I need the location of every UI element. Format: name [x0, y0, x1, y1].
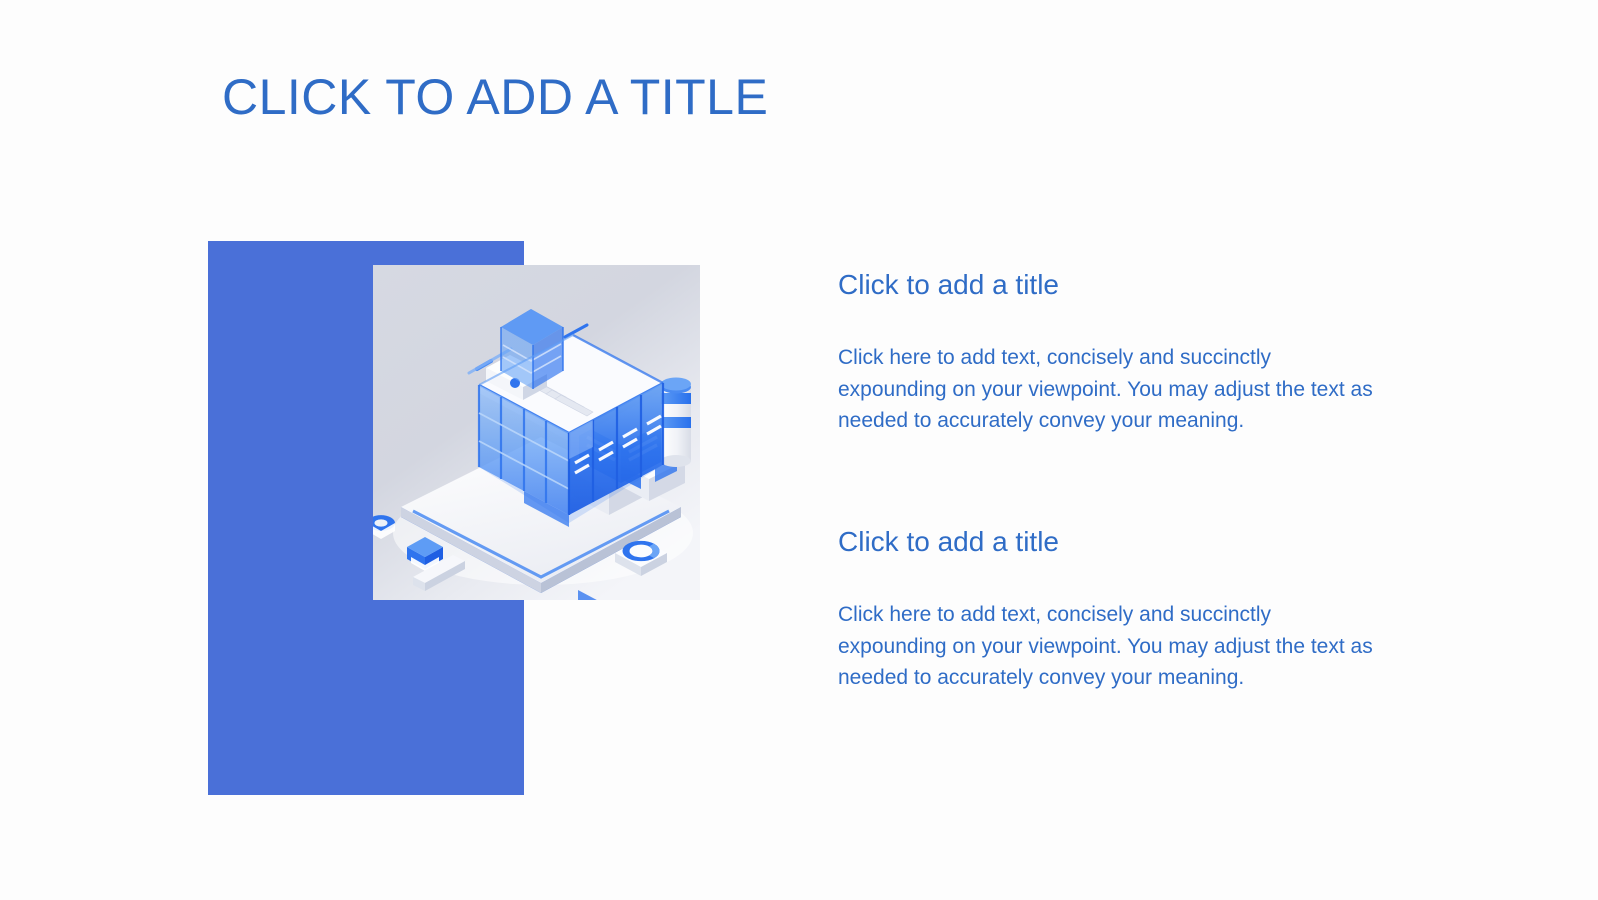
isometric-building-illustration[interactable] — [373, 265, 700, 600]
block-1-body[interactable]: Click here to add text, concisely and su… — [838, 342, 1383, 437]
presentation-slide: CLICK TO ADD A TITLE — [0, 0, 1598, 900]
block-2-body[interactable]: Click here to add text, concisely and su… — [838, 599, 1383, 694]
block-2-heading[interactable]: Click to add a title — [838, 523, 1383, 561]
text-block-1: Click to add a title Click here to add t… — [838, 266, 1383, 437]
block-1-heading[interactable]: Click to add a title — [838, 266, 1383, 304]
page-title[interactable]: CLICK TO ADD A TITLE — [222, 66, 768, 128]
text-block-2: Click to add a title Click here to add t… — [838, 523, 1383, 694]
isometric-building-graphic — [373, 265, 700, 600]
